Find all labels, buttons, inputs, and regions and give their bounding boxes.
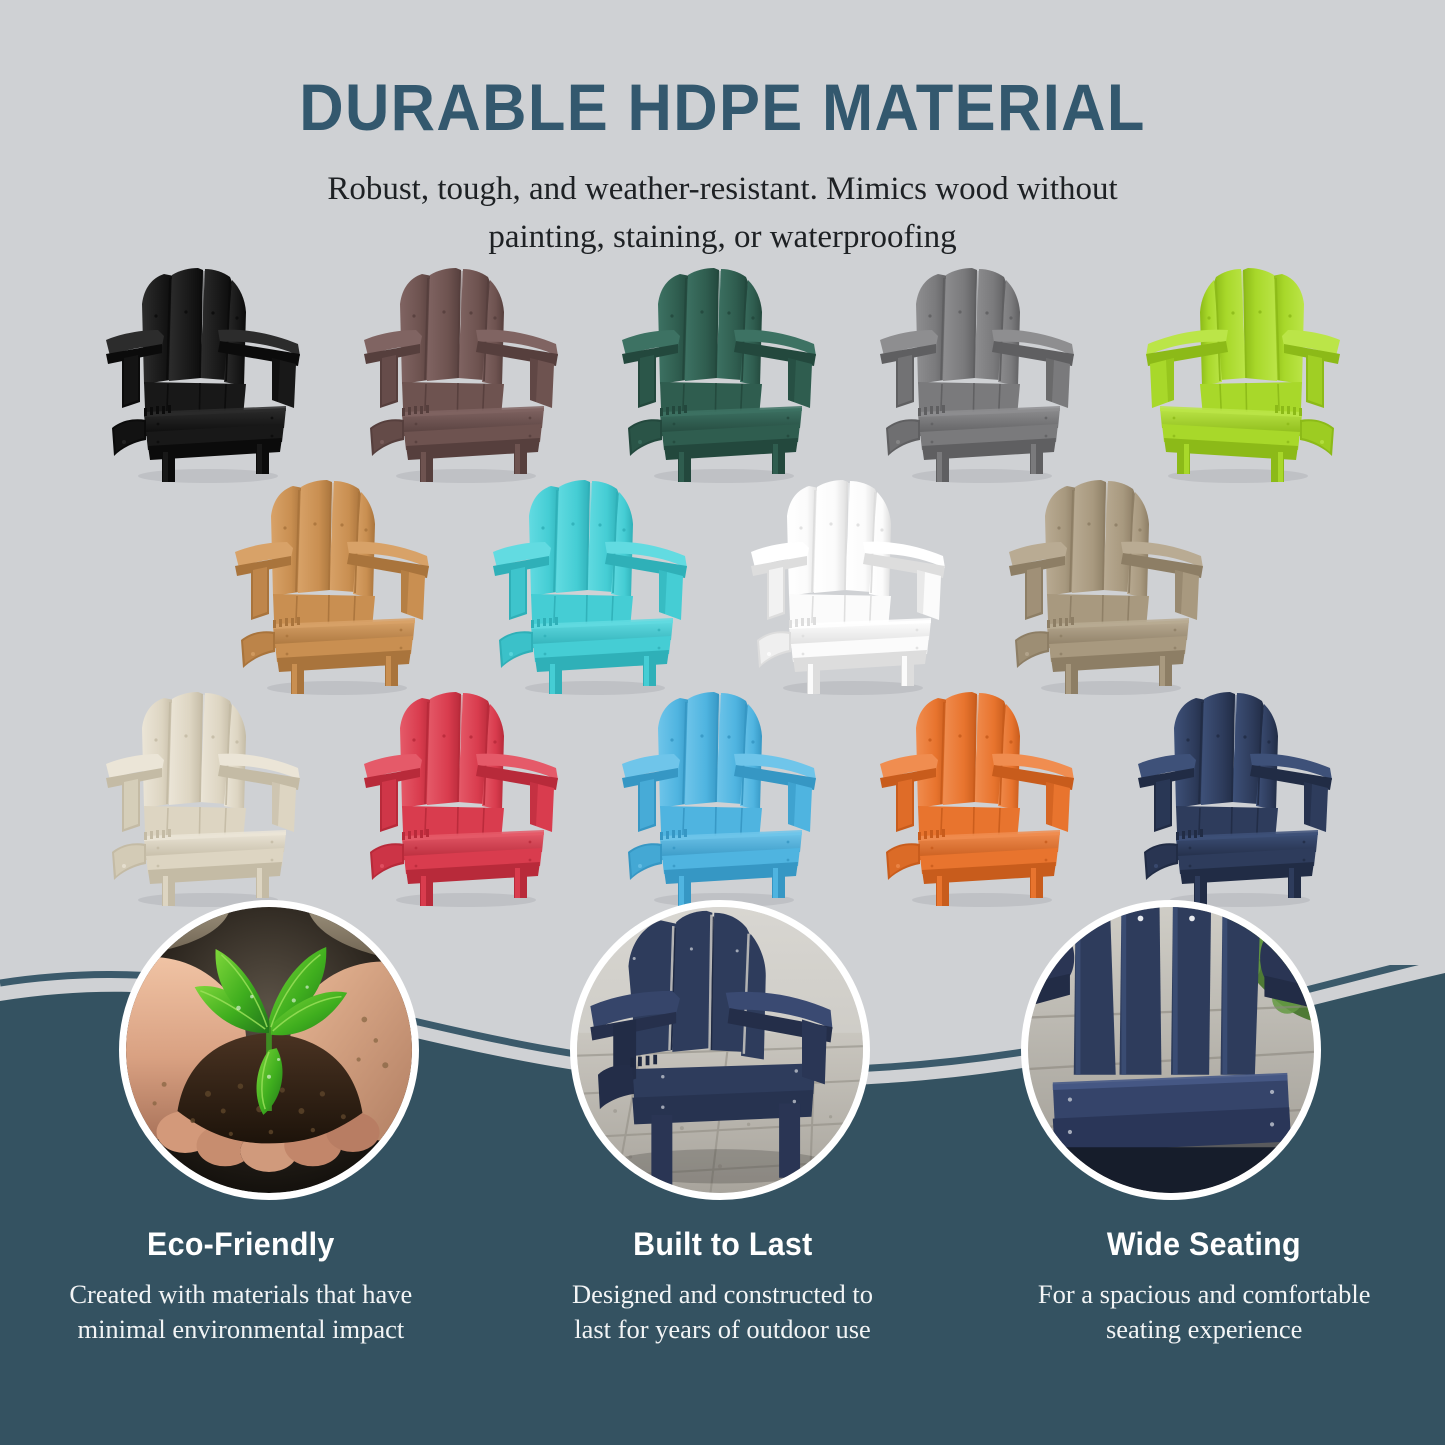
seating-photo-inner [1028,907,1314,1193]
chair-art [100,692,314,908]
feature-body: Designed and constructed to last for yea… [500,1277,946,1347]
feature-body-line-1: Created with materials that have [69,1279,412,1309]
feature-photos [0,896,1445,1226]
header: DURABLE HDPE MATERIAL Robust, tough, and… [0,0,1445,262]
feature-heading: Wide Seating [992,1226,1415,1263]
page-title: DURABLE HDPE MATERIAL [51,74,1395,140]
feature-eco-friendly: Eco-Friendly Created with materials that… [0,1226,482,1347]
chair-swatch-orange[interactable] [874,692,1088,908]
chair-art [745,480,959,696]
eco-photo-inner [126,907,412,1193]
chair-art [1132,268,1346,484]
subtitle-line-2: painting, staining, or waterproofing [223,214,1223,262]
chair-swatch-turquoise[interactable] [487,480,701,696]
chair-swatch-weathered-wood[interactable] [1003,480,1217,696]
feature-body-line-1: Designed and constructed to [572,1279,873,1309]
chair-art [487,480,701,696]
chair-art [358,268,572,484]
chair-swatch-teak[interactable] [229,480,443,696]
chair-swatch-white[interactable] [745,480,959,696]
feature-body: For a spacious and comfortable seating e… [981,1277,1427,1347]
chair-art [1003,480,1217,696]
chair-art [616,692,830,908]
subtitle-line-1: Robust, tough, and weather-resistant. Mi… [223,166,1223,214]
chair-swatch-brown[interactable] [358,268,572,484]
chair-swatch-ivory[interactable] [100,692,314,908]
feature-body-line-2: minimal environmental impact [77,1314,404,1344]
chair-art [874,692,1088,908]
chair-art [1132,692,1346,908]
chair-color-grid [0,268,1445,908]
feature-body: Created with materials that have minimal… [18,1277,464,1347]
durability-photo [570,900,870,1200]
feature-body-line-1: For a spacious and comfortable [1038,1279,1371,1309]
chair-swatch-dark-green[interactable] [616,268,830,484]
chair-art [874,268,1088,484]
chair-art [616,268,830,484]
seating-photo-art [1028,907,1314,1193]
feature-body-line-2: seating experience [1106,1314,1302,1344]
durability-photo-inner [577,907,863,1193]
chair-art [358,692,572,908]
page-subtitle: Robust, tough, and weather-resistant. Mi… [223,166,1223,262]
chair-row-1 [0,268,1445,484]
infographic-page: DURABLE HDPE MATERIAL Robust, tough, and… [0,0,1445,1445]
chair-swatch-lime-green[interactable] [1132,268,1346,484]
eco-photo [119,900,419,1200]
eco-photo-art [126,907,412,1193]
chair-art [229,480,443,696]
chair-swatch-black[interactable] [100,268,314,484]
chair-swatch-gray[interactable] [874,268,1088,484]
chair-swatch-red[interactable] [358,692,572,908]
chair-row-2 [0,480,1445,696]
feature-wide-seating: Wide Seating For a spacious and comforta… [963,1226,1445,1347]
feature-list: Eco-Friendly Created with materials that… [0,1226,1445,1347]
feature-built-to-last: Built to Last Designed and constructed t… [482,1226,964,1347]
feature-heading: Eco-Friendly [29,1226,452,1263]
durability-photo-art [577,907,863,1193]
feature-body-line-2: last for years of outdoor use [574,1314,871,1344]
chair-art [100,268,314,484]
seating-photo [1021,900,1321,1200]
chair-row-3 [0,692,1445,908]
feature-heading: Built to Last [511,1226,934,1263]
chair-swatch-light-blue[interactable] [616,692,830,908]
chair-swatch-navy[interactable] [1132,692,1346,908]
